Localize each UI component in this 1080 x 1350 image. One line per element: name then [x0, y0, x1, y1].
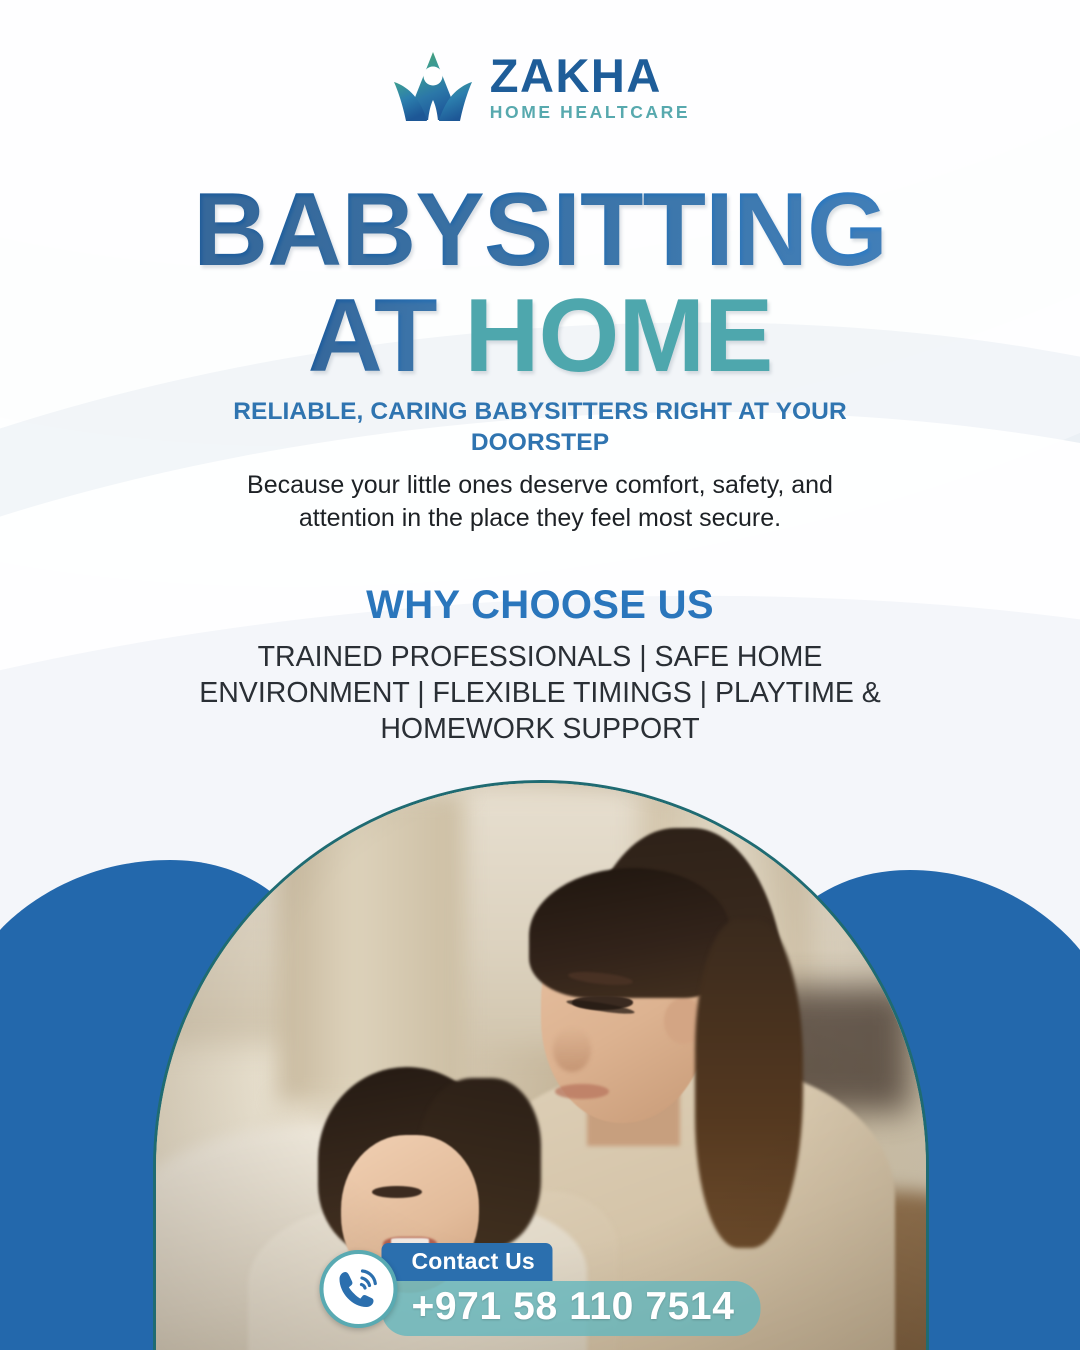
- headline-line-2-prefix: AT: [308, 278, 465, 394]
- why-choose-us-body: TRAINED PROFESSIONALS | SAFE HOME ENVIRO…: [190, 640, 890, 748]
- subheading-strong: RELIABLE, CARING BABYSITTERS RIGHT AT YO…: [220, 396, 860, 459]
- contact-bar[interactable]: Contact Us +971 58 110 7514: [319, 1243, 760, 1336]
- headline-line-1: BABYSITTING: [0, 182, 1080, 280]
- brand-tagline: HOME HEALTCARE: [490, 104, 690, 122]
- subheading-body: Because your little ones deserve comfort…: [220, 469, 860, 536]
- contact-text-stack: Contact Us +971 58 110 7514: [381, 1243, 760, 1336]
- headline-line-2-highlight: HOME: [464, 278, 772, 394]
- zakha-person-triangle-logo-icon: [390, 48, 476, 126]
- subheading-block: RELIABLE, CARING BABYSITTERS RIGHT AT YO…: [220, 396, 860, 535]
- brand-name: ZAKHA: [490, 52, 690, 99]
- why-choose-us-title: WHY CHOOSE US: [190, 583, 890, 628]
- page-title: BABYSITTING AT HOME: [0, 182, 1080, 386]
- why-choose-us-block: WHY CHOOSE US TRAINED PROFESSIONALS | SA…: [190, 583, 890, 748]
- brand-logo: ZAKHA HOME HEALTCARE: [0, 48, 1080, 126]
- contact-phone-number[interactable]: +971 58 110 7514: [381, 1281, 760, 1336]
- brand-wordmark: ZAKHA HOME HEALTCARE: [490, 52, 690, 122]
- contact-us-label: Contact Us: [381, 1243, 552, 1281]
- headline-line-2: AT HOME: [0, 288, 1080, 386]
- poster-canvas: ZAKHA HOME HEALTCARE BABYSITTING AT HOME…: [0, 0, 1080, 1350]
- phone-call-icon[interactable]: [319, 1250, 397, 1328]
- phone-call-icon-glyph: [334, 1265, 382, 1313]
